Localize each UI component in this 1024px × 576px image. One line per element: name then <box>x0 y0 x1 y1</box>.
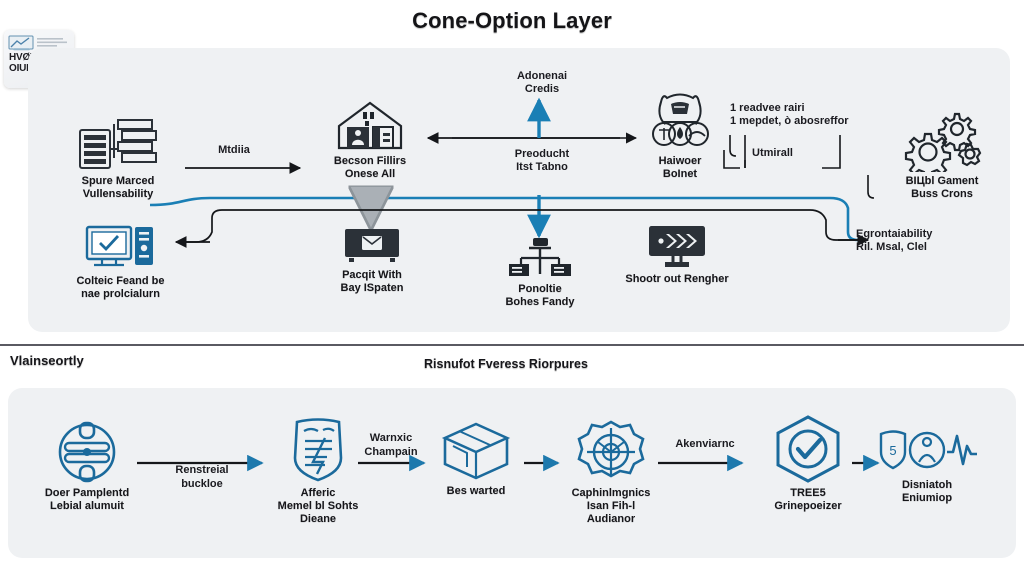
flow-step-4[interactable]: Caphinlmgnics Isan Fih-l Audianor <box>556 420 666 526</box>
flow-step-label: Doer Pamplentd Lebial alumuit <box>28 487 146 513</box>
accountability-label: Egrontaiability Ril. Msal, Clel <box>856 228 1006 254</box>
target-gear-icon <box>576 420 646 484</box>
bracket-label-inner: Utmirall <box>752 147 832 160</box>
network-topology-icon <box>507 236 573 280</box>
node-label: Spure Marced Vullensability <box>48 175 188 201</box>
screen-mail-icon <box>343 226 401 266</box>
node-label: Ponoltie Bohes Fandy <box>488 283 592 309</box>
node-label: Pacqit With Bay ISpaten <box>318 269 426 295</box>
edge-label-media: Mtdiia <box>198 144 270 157</box>
document-shield-icon <box>287 418 349 484</box>
node-server-stack[interactable]: Spure Marced Vullensability <box>48 118 188 201</box>
node-packet-screen[interactable]: Pacqit With Bay ISpaten <box>318 226 426 295</box>
server-documents-icon <box>76 118 160 172</box>
node-hacker-shield[interactable]: Haiwoer BoInet <box>625 92 735 181</box>
desktop-check-icon <box>84 222 158 272</box>
gear-process-icon <box>52 420 122 484</box>
edge-label-above: Adonenai Credis <box>500 70 584 96</box>
house-people-icon <box>335 100 405 152</box>
flow-arrow-label-1: Renstreial buckloe <box>152 464 252 492</box>
flow-arrow-label-4: Akenviarnc <box>660 438 750 452</box>
hexagon-check-icon <box>770 414 846 484</box>
edge-label-below: Preoducht Itst Tabno <box>498 148 586 174</box>
svg-text:5: 5 <box>889 443 896 458</box>
flow-step-5[interactable]: TREE5 Grinepoeizer <box>752 414 864 513</box>
bracket-label-upper: 1 readvee rairi 1 mepdet, ò abosreffor <box>730 102 890 128</box>
diagram-canvas: Cone-Option Layer HVØW IT OIULYIEW Vlain… <box>0 0 1024 576</box>
node-label: BIЦbl Gament Buss Crons <box>872 175 1012 201</box>
section-heading-center: Risnufot Fveress Riorpures <box>424 357 588 371</box>
node-house-people[interactable]: Becson Fillirs Onese All <box>305 100 435 181</box>
node-network-topology[interactable]: Ponoltie Bohes Fandy <box>488 236 592 309</box>
flow-step-3[interactable]: Bes warted <box>424 420 528 498</box>
node-render-monitor[interactable]: Shootr out Rengher <box>608 224 746 286</box>
flow-step-6[interactable]: 5 Disniatoh Eniumiop <box>872 428 982 505</box>
node-label: Becson Fillirs Onese All <box>305 155 435 181</box>
node-label: Shootr out Rengher <box>608 273 746 286</box>
monitor-arrows-icon <box>647 224 707 270</box>
flow-step-label: TREE5 Grinepoeizer <box>752 487 864 513</box>
page-title: Cone-Option Layer <box>0 8 1024 34</box>
node-label: Haiwoer BoInet <box>625 155 735 181</box>
flow-step-label: Disniatoh Eniumiop <box>872 479 982 505</box>
node-monitor-check[interactable]: Colteic Feand be nae prolcialurn <box>48 222 193 301</box>
node-gears[interactable]: BIЦbl Gament Buss Crons <box>872 110 1012 201</box>
section-divider <box>0 344 1024 346</box>
shield-pulse-icon: 5 <box>875 428 979 476</box>
node-label: Colteic Feand be nae prolcialurn <box>48 275 193 301</box>
section-heading-left: Vlainseortly <box>10 353 84 368</box>
flow-step-1[interactable]: Doer Pamplentd Lebial alumuit <box>28 420 146 513</box>
flow-arrow-label-2: Warnxic Champain <box>348 432 434 460</box>
gears-icon <box>899 110 985 172</box>
flow-step-label: Bes warted <box>424 485 528 498</box>
box-package-icon <box>439 420 513 482</box>
flow-step-label: Afferic Memel bl Sohts Dieane <box>258 487 378 526</box>
flow-step-label: Caphinlmgnics Isan Fih-l Audianor <box>556 487 666 526</box>
hacker-shield-icon <box>643 92 717 152</box>
